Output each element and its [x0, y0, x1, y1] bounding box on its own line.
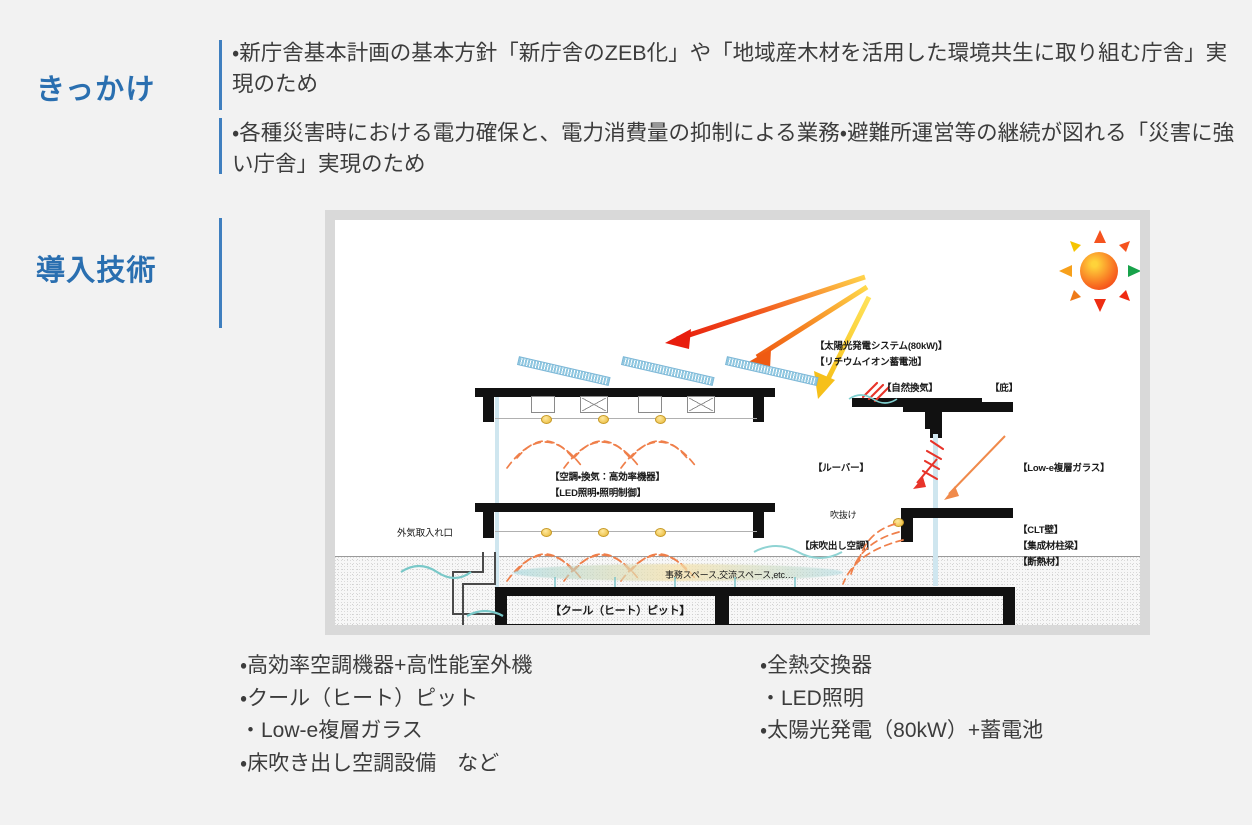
section-label-trigger: きっかけ [36, 66, 155, 108]
basement-top-slab [495, 587, 1015, 596]
trigger-paragraph-1: ・新庁舎基本計画の基本方針「新庁舎のZEB化」や「地域産木材を活用した環境共生に… [232, 38, 1242, 99]
tech-item: ・高効率空調機器+高性能室外機 [240, 650, 532, 683]
tech-item: ・太陽光発電（80kW）+蓄電池 [760, 715, 1043, 748]
tech-item: ・全熱交換器 [760, 650, 1043, 683]
ceiling-unit-square-2 [638, 396, 662, 413]
roof-parapet-left [483, 388, 494, 422]
mid-column-left [483, 512, 494, 538]
ceiling-unit-square-1 [531, 396, 555, 413]
slide-root: きっかけ ・新庁舎基本計画の基本方針「新庁舎のZEB化」や「地域産木材を活用した… [0, 0, 1252, 825]
tech-item: ・LED照明 [760, 683, 1043, 716]
label-cool-heat-pit: 【クール（ヒート）ピット】 [550, 602, 690, 618]
ceiling-line-upper [495, 418, 757, 419]
mid-floor-slab [475, 503, 775, 512]
label-clt-wall: 【CLT壁】 [1018, 522, 1063, 536]
trigger-paragraph-2: ・各種災害時における電力確保と、電力消費量の抑制による業務・避難所運営等の継続が… [232, 118, 1242, 179]
tech-list-left: ・高効率空調機器+高性能室外機 ・クール（ヒート）ピット ・Low-e複層ガラス… [240, 650, 532, 780]
label-eaves: 【庇】 [990, 380, 1018, 394]
eaves-slab [903, 402, 1013, 412]
label-insulation: 【断熱材】 [1018, 554, 1065, 568]
label-battery: 【リチウムイオン蓄電池】 [815, 354, 927, 368]
label-natural-ventilation: 【自然換気】 [882, 380, 938, 394]
tech-item: ・床吹き出し空調設備 など [240, 748, 532, 781]
tech-item: ・クール（ヒート）ピット [240, 683, 532, 716]
ground-wave-icon [750, 538, 870, 564]
tech-item: ・Low-e複層ガラス [240, 715, 532, 748]
ceiling-unit-diamond-1 [580, 396, 608, 413]
tech-list-right: ・全熱交換器 ・LED照明 ・太陽光発電（80kW）+蓄電池 [760, 650, 1043, 748]
label-lowe-glass: 【Low-e複層ガラス】 [1018, 460, 1109, 474]
air-flow-waves-icon [395, 550, 525, 625]
solar-gain-arrow-icon [931, 432, 1021, 510]
section-label-technology: 導入技術 [36, 247, 157, 289]
label-solar-system: 【太陽光発電システム(80kW)】 [815, 338, 947, 352]
label-louver: 【ルーバー】 [813, 460, 869, 474]
label-outside-air-intake: 外気取入れ口 [397, 525, 453, 539]
pit-wall-mid [715, 587, 729, 625]
ceiling-unit-diamond-2 [687, 396, 715, 413]
accent-bar-technology [219, 218, 222, 328]
roof-slab-left [475, 388, 775, 397]
label-glulam: 【集成材柱梁】 [1018, 538, 1083, 552]
building-section-diagram: 【太陽光発電システム(80kW)】 【リチウムイオン蓄電池】 [325, 210, 1150, 635]
diagram-canvas: 【太陽光発電システム(80kW)】 【リチウムイオン蓄電池】 [335, 220, 1140, 625]
basement-bottom-slab [495, 624, 1015, 625]
pit-wall-right [1003, 587, 1015, 625]
ceiling-line-lower [495, 531, 757, 532]
label-lighting: 【LED照明・照明制御】 [550, 485, 646, 499]
accent-bar-trigger-2 [219, 118, 222, 174]
roof-parapet-right [753, 388, 764, 422]
airflow-arcs-upper-icon [495, 420, 765, 472]
accent-bar-trigger-1 [219, 40, 222, 110]
label-hvac: 【空調・換気：高効率機器】 [550, 469, 665, 483]
